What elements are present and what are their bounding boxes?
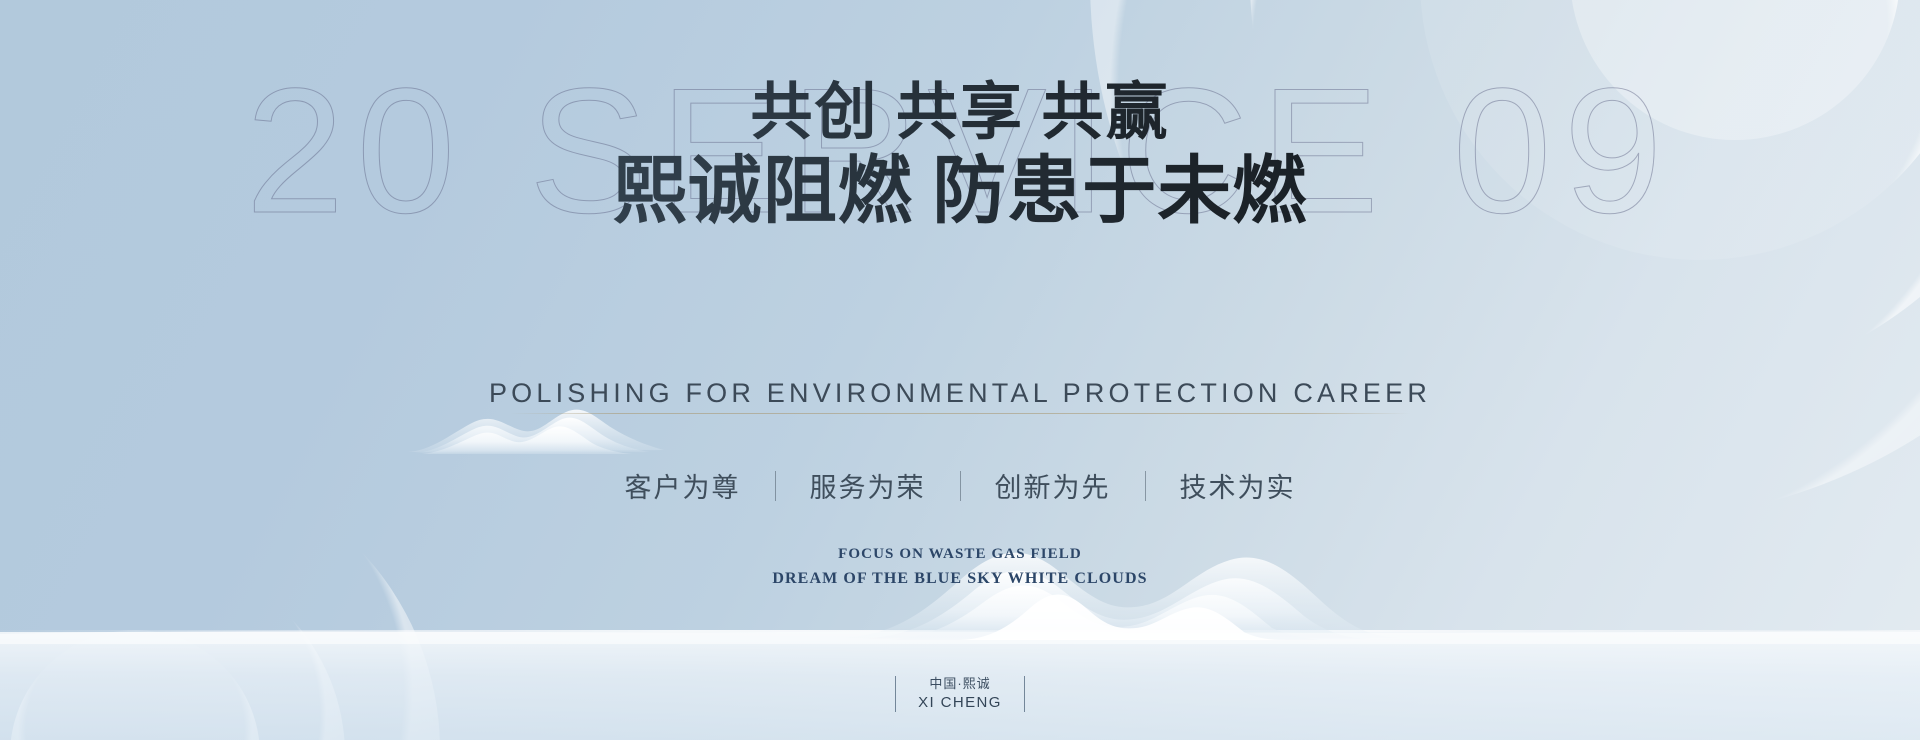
values-row: 客户为尊 服务为荣 创新为先 技术为实	[0, 466, 1920, 505]
headline-line-2: 熙诚阻燃 防患于未燃	[0, 150, 1920, 234]
footer-divider-left	[895, 676, 896, 712]
value-item-2: 服务为荣	[776, 466, 960, 505]
headline-line-1: 共创 共享 共赢	[0, 76, 1920, 150]
footer-brand-block: 中国·熙诚 XI CHENG	[0, 675, 1920, 712]
footer-brand-en: XI CHENG	[918, 693, 1002, 712]
footer-brand-cn: 中国·熙诚	[918, 675, 1002, 693]
footer-brand-text: 中国·熙诚 XI CHENG	[918, 675, 1002, 712]
tagline-underline-rule	[510, 413, 1410, 414]
micro-line-2: DREAM OF THE BLUE SKY WHITE CLOUDS	[0, 570, 1920, 588]
cloud-right-range	[840, 553, 1400, 640]
footer-divider-right	[1024, 676, 1025, 712]
english-tagline: POLISHING FOR ENVIRONMENTAL PROTECTION C…	[0, 378, 1920, 409]
cloud-left-cluster	[408, 410, 664, 454]
value-item-1: 客户为尊	[591, 466, 775, 505]
horizon-line	[0, 630, 1920, 632]
micro-line-1: FOCUS ON WASTE GAS FIELD	[0, 546, 1920, 563]
hero-banner: 20 SERVICE 09 共创 共享 共赢 熙诚阻燃 防患于未燃 POLISH…	[0, 0, 1920, 740]
headline-block: 共创 共享 共赢 熙诚阻燃 防患于未燃	[0, 76, 1920, 234]
value-item-4: 技术为实	[1146, 466, 1330, 505]
value-item-3: 创新为先	[961, 466, 1145, 505]
